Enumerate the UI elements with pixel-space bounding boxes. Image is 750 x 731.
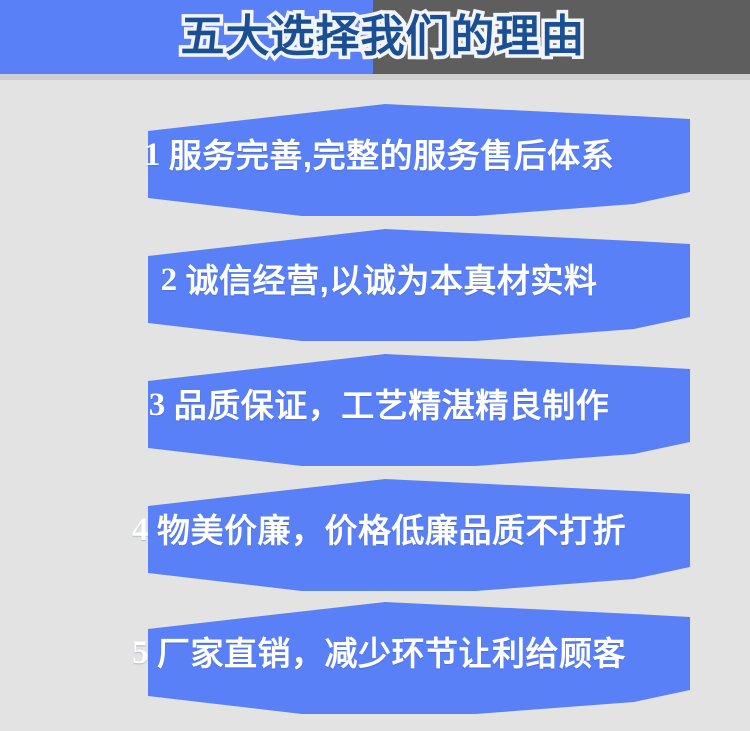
- reason-banner[interactable]: 3 品质保证，工艺精湛精良制作: [60, 344, 690, 466]
- reason-label: 4 物美价廉，价格低廉品质不打折: [60, 469, 690, 591]
- reason-number: 2: [161, 264, 178, 297]
- reason-banner[interactable]: 5 厂家直销，减少环节让利给顾客: [60, 592, 690, 714]
- reason-label: 3 品质保证，工艺精湛精良制作: [60, 344, 690, 466]
- reason-text: 厂家直销，减少环节让利给顾客: [157, 637, 626, 670]
- reason-text: 物美价廉，价格低廉品质不打折: [157, 514, 626, 547]
- reason-number: 1: [144, 139, 161, 172]
- reason-text: 品质保证，工艺精湛精良制作: [174, 389, 610, 422]
- reason-number: 3: [149, 389, 166, 422]
- reason-text: 诚信经营,以诚为本真材实料: [186, 264, 598, 297]
- reason-label: 1 服务完善,完整的服务售后体系: [60, 94, 690, 216]
- reason-banner[interactable]: 1 服务完善,完整的服务售后体系: [60, 94, 690, 216]
- reason-number: 4: [132, 514, 149, 547]
- reason-banner[interactable]: 2 诚信经营,以诚为本真材实料: [60, 219, 690, 341]
- reason-label: 2 诚信经营,以诚为本真材实料: [60, 219, 690, 341]
- page-title: 五大选择我们的理由: [0, 0, 750, 74]
- reason-banner[interactable]: 4 物美价廉，价格低廉品质不打折: [60, 469, 690, 591]
- reason-text: 服务完善,完整的服务售后体系: [169, 139, 614, 172]
- reason-label: 5 厂家直销，减少环节让利给顾客: [60, 592, 690, 714]
- reason-number: 5: [132, 637, 149, 670]
- reason-list: 1 服务完善,完整的服务售后体系 2 诚信经营,以诚为本真材实料 3 品质保证，…: [0, 80, 750, 731]
- header-bar: 五大选择我们的理由: [0, 0, 750, 74]
- promo-page: 五大选择我们的理由 1 服务完善,完整的服务售后体系 2 诚信经营,以诚为本真材…: [0, 0, 750, 731]
